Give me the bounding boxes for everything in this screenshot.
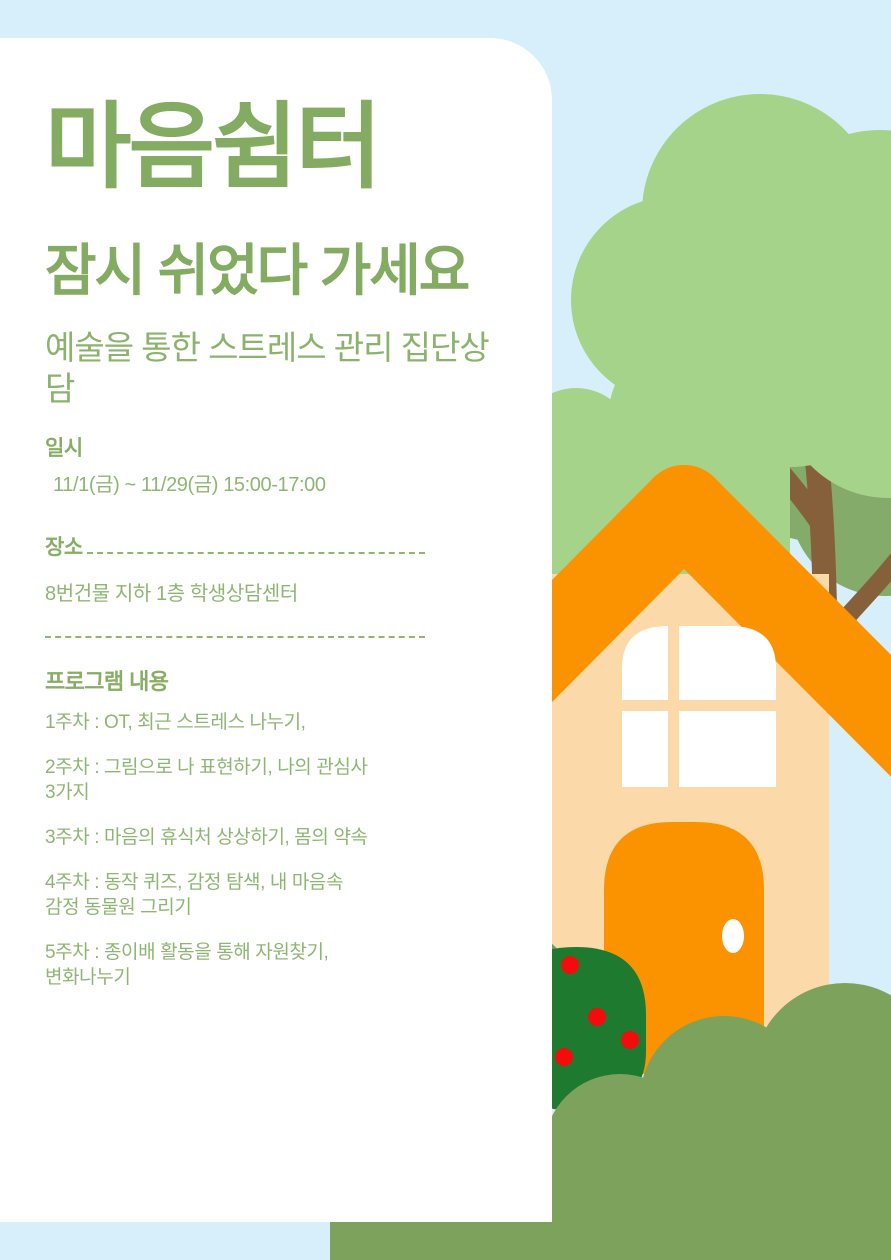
dashed-rule-inline — [87, 552, 425, 554]
program-section: 프로그램 내용 1주차 : OT, 최근 스트레스 나누기, 2주차 : 그림으… — [45, 664, 515, 991]
door-handle — [722, 919, 744, 953]
poster-canvas: 마음쉼터 잠시 쉬었다 가세요 예술을 통한 스트레스 관리 집단상담 일시 1… — [0, 0, 891, 1260]
date-value: 11/1(금) ~ 11/29(금) 15:00-17:00 — [45, 468, 515, 497]
program-week-item: 5주차 : 종이배 활동을 통해 자원찾기, 변화나누기 — [45, 940, 515, 990]
subtitle-description: 예술을 통한 스트레스 관리 집단상담 — [45, 327, 515, 410]
berry-dot — [588, 1008, 606, 1026]
house-window — [622, 626, 776, 787]
place-label: 장소 — [45, 531, 83, 561]
program-label: 프로그램 내용 — [45, 664, 515, 696]
program-week-item: 4주차 : 동작 퀴즈, 감정 탐색, 내 마음속 감정 동물원 그리기 — [45, 870, 515, 920]
berry-dot — [555, 1048, 573, 1066]
program-week-item: 2주차 : 그림으로 나 표현하기, 나의 관심사 3가지 — [45, 755, 515, 805]
headline: 잠시 쉬었다 가세요 — [45, 240, 515, 303]
page-title: 마음쉼터 — [45, 100, 515, 194]
dashed-divider — [45, 636, 425, 638]
program-week-item: 3주차 : 마음의 휴식처 상상하기, 몸의 약속 — [45, 825, 515, 850]
place-value: 8번건물 지하 1층 학생상담센터 — [45, 577, 515, 606]
place-field: 장소 8번건물 지하 1층 학생상담센터 — [45, 531, 515, 606]
date-label: 일시 — [45, 432, 515, 462]
program-week-item: 1주차 : OT, 최근 스트레스 나누기, — [45, 710, 515, 735]
date-field: 일시 11/1(금) ~ 11/29(금) 15:00-17:00 — [45, 432, 515, 497]
place-label-row: 장소 — [45, 531, 425, 561]
berry-dot — [621, 1031, 639, 1049]
poster-content: 마음쉼터 잠시 쉬었다 가세요 예술을 통한 스트레스 관리 집단상담 일시 1… — [45, 100, 515, 991]
berry-dot — [561, 956, 579, 974]
